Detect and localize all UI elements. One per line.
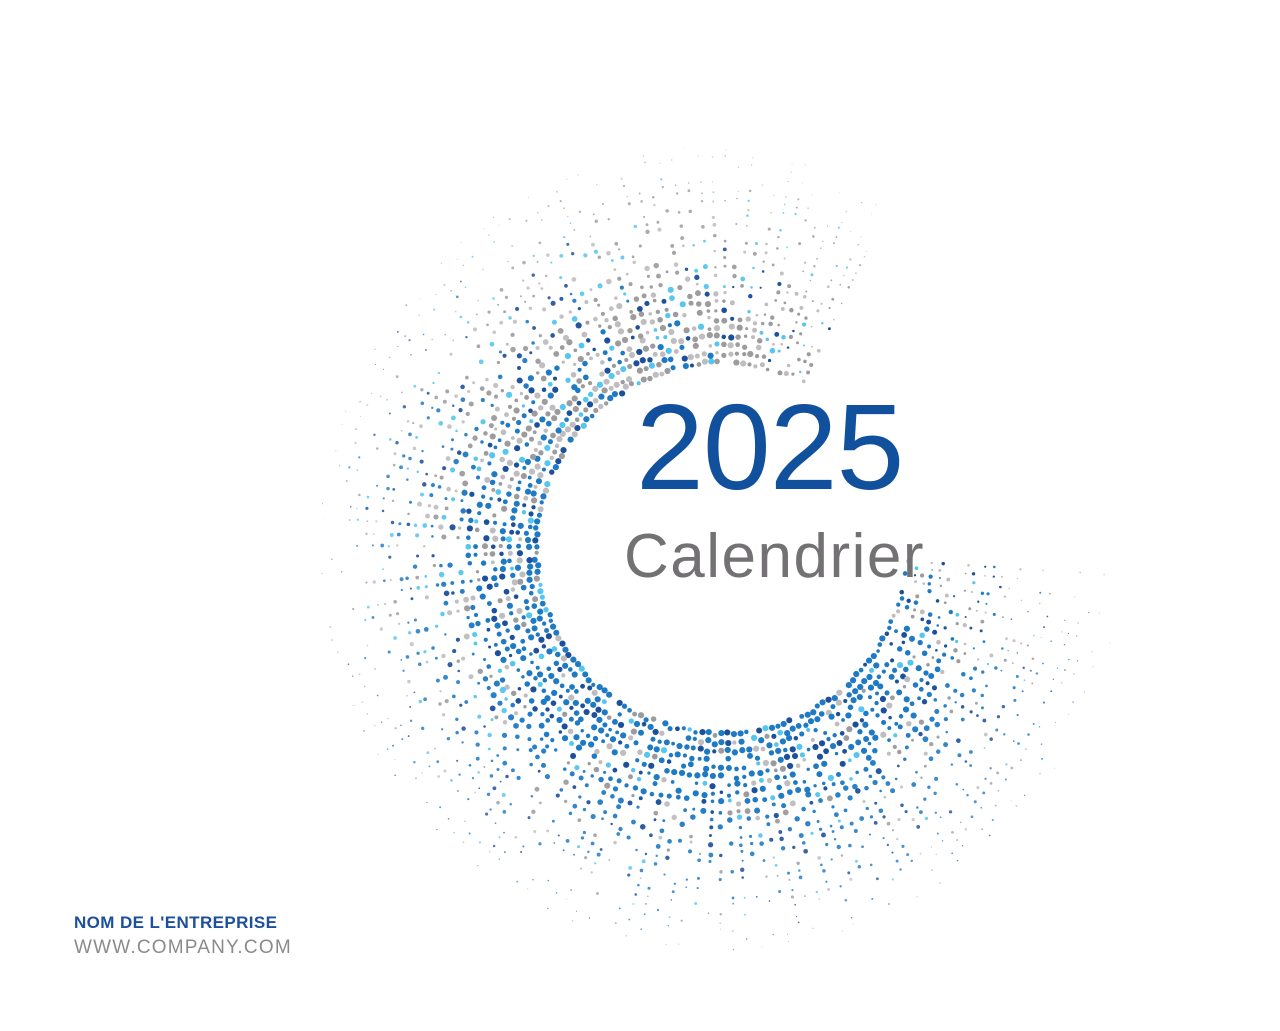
company-website-url: WWW.COMPANY.COM xyxy=(74,937,292,959)
page-subtitle: Calendrier xyxy=(624,526,1136,588)
footer: NOM DE L'ENTREPRISE WWW.COMPANY.COM xyxy=(74,913,292,959)
company-name: NOM DE L'ENTREPRISE xyxy=(74,913,292,933)
title-block: 2025 Calendrier xyxy=(636,386,1136,588)
page-title-year: 2025 xyxy=(636,386,1136,508)
calendar-cover-page: 2025 Calendrier NOM DE L'ENTREPRISE WWW.… xyxy=(0,0,1280,1031)
